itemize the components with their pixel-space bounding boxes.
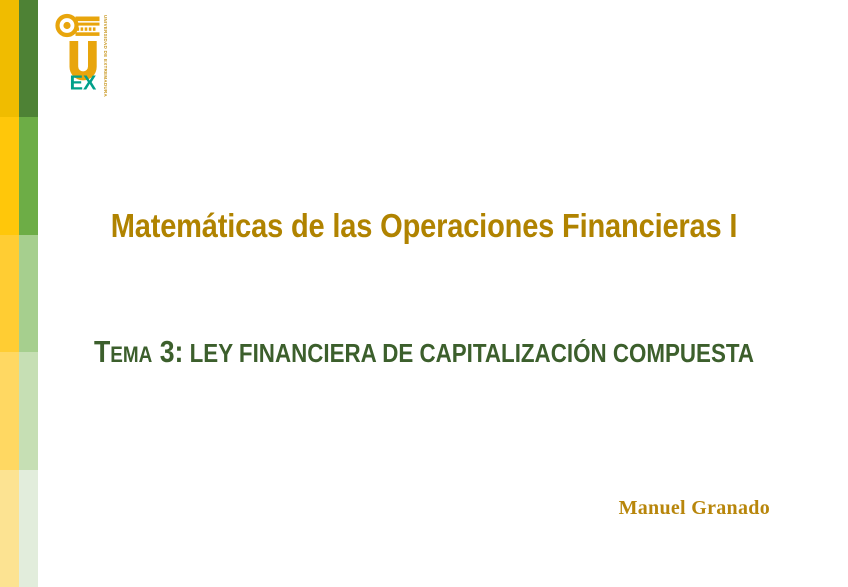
sidebar-band	[0, 117, 38, 234]
uex-logo: EX UNIVERSIDAD DE EXTREMADURA	[55, 9, 113, 107]
sidebar-band-green-stripe	[19, 117, 38, 234]
uex-logo-mark-icon: EX	[55, 9, 101, 107]
slide-subtitle-rest: ley financiera de capitalización compues…	[183, 338, 754, 368]
sidebar-band	[0, 235, 38, 352]
uex-logo-vertical-text: UNIVERSIDAD DE EXTREMADURA	[99, 15, 111, 105]
sidebar-band-gold-stripe	[0, 117, 19, 234]
uex-logo-vertical-text-label: UNIVERSIDAD DE EXTREMADURA	[103, 15, 108, 97]
sidebar-band-green-stripe	[19, 0, 38, 117]
sidebar-band-green-stripe	[19, 352, 38, 469]
sidebar-band	[0, 0, 38, 117]
sidebar-band-gold-stripe	[0, 0, 19, 117]
decorative-sidebar	[0, 0, 38, 587]
sidebar-band-gold-stripe	[0, 235, 19, 352]
sidebar-band-gold-stripe	[0, 470, 19, 587]
sidebar-band-green-stripe	[19, 235, 38, 352]
uex-logo-ex-wordmark: EX	[70, 73, 97, 95]
slide-title: Matemáticas de las Operaciones Financier…	[51, 207, 797, 245]
slide-subtitle-lead: Tema 3:	[94, 334, 183, 369]
sidebar-band-green-stripe	[19, 470, 38, 587]
sidebar-band-gold-stripe	[0, 352, 19, 469]
slide-subtitle: Tema 3: ley financiera de capitalización…	[59, 334, 788, 370]
title-slide: EX UNIVERSIDAD DE EXTREMADURA Matemática…	[0, 0, 848, 587]
sidebar-band	[0, 470, 38, 587]
slide-author: Manuel Granado	[619, 497, 770, 520]
sidebar-band	[0, 352, 38, 469]
